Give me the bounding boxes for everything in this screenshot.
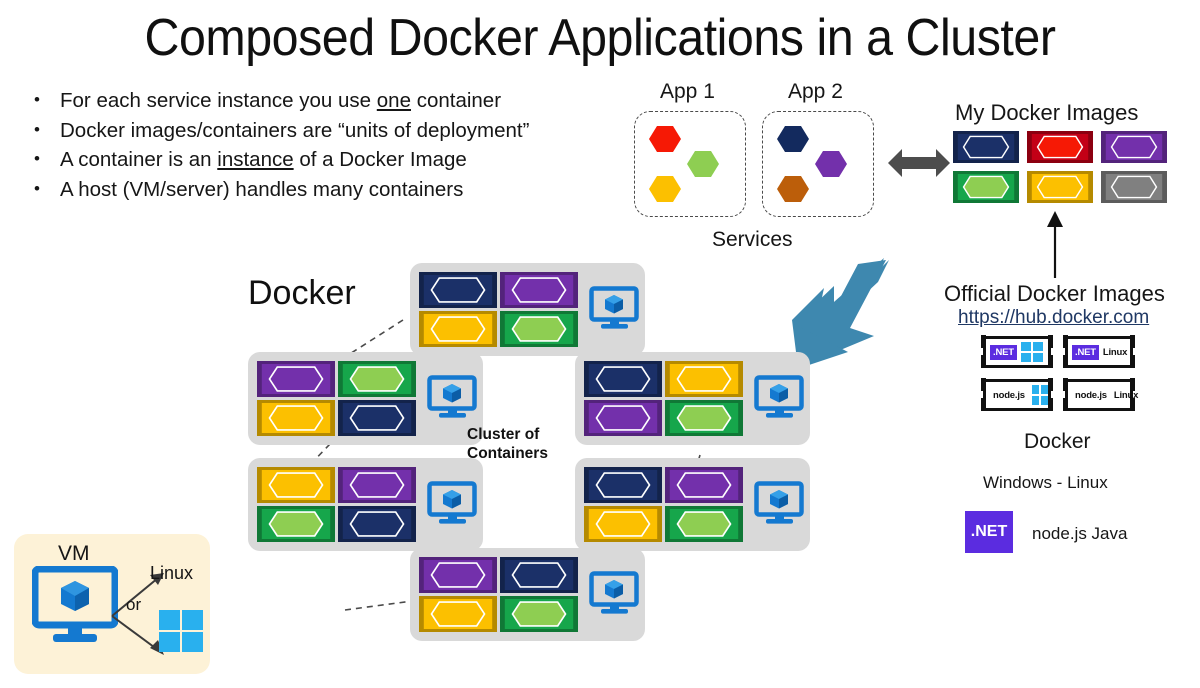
host-left-upper-container-4[interactable] [338,400,416,441]
host-left-lower-container-3[interactable] [257,506,335,547]
host-bottom-container-4[interactable] [500,596,578,637]
host-left-lower-container-1[interactable] [257,467,335,508]
host-right-lower-container-1[interactable] [584,467,662,508]
cluster-caption-line1: Cluster of [467,425,548,444]
host-bottom-monitor-icon [589,571,641,617]
host-right-lower-container-3[interactable] [584,506,662,547]
host-left-lower-container-4-glyph [338,506,416,542]
host-top-container-2-glyph [500,272,578,308]
host-right-lower-container-3-glyph [584,506,662,542]
vm-or-label: or [126,595,141,615]
host-right-lower-container-1-glyph [584,467,662,503]
host-right-upper-monitor[interactable] [754,375,806,426]
host-left-upper-monitor[interactable] [427,375,479,426]
host-left-lower-monitor-icon [427,481,479,527]
host-right-upper-container-2[interactable] [665,361,743,402]
host-top-container-3-glyph [419,311,497,347]
host-top-container-4-glyph [500,311,578,347]
vm-monitor-icon [32,566,118,644]
host-left-upper[interactable] [248,352,483,445]
host-top[interactable] [410,263,645,356]
host-left-upper-container-2-glyph [338,361,416,397]
host-right-upper-container-3[interactable] [584,400,662,441]
host-top-container-1-glyph [419,272,497,308]
host-left-upper-container-2[interactable] [338,361,416,402]
host-right-lower-monitor-icon [754,481,806,527]
host-top-container-3[interactable] [419,311,497,352]
host-left-lower-container-1-glyph [257,467,335,503]
host-right-lower-container-2-glyph [665,467,743,503]
host-left-upper-container-3-glyph [257,400,335,436]
host-left-lower-monitor[interactable] [427,481,479,532]
host-bottom-container-4-glyph [500,596,578,632]
vm-card[interactable]: VM Linux or [14,534,210,674]
host-right-lower-container-4[interactable] [665,506,743,547]
host-left-upper-monitor-icon [427,375,479,421]
host-left-lower[interactable] [248,458,483,551]
host-right-upper-container-1-glyph [584,361,662,397]
host-bottom-container-2-glyph [500,557,578,593]
host-bottom-container-2[interactable] [500,557,578,598]
vm-linux-label: Linux [150,563,193,584]
host-right-upper-container-4-glyph [665,400,743,436]
host-top-monitor[interactable] [589,286,641,337]
cluster-caption-line2: Containers [467,444,548,463]
host-top-container-1[interactable] [419,272,497,313]
host-left-upper-container-1[interactable] [257,361,335,402]
host-right-lower[interactable] [575,458,810,551]
host-bottom[interactable] [410,548,645,641]
host-right-upper-container-1[interactable] [584,361,662,402]
host-left-upper-container-1-glyph [257,361,335,397]
windows-logo-icon [159,610,203,652]
host-bottom-container-3[interactable] [419,596,497,637]
host-left-lower-container-2[interactable] [338,467,416,508]
host-left-lower-container-4[interactable] [338,506,416,547]
host-left-lower-container-2-glyph [338,467,416,503]
host-left-upper-container-4-glyph [338,400,416,436]
host-right-upper[interactable] [575,352,810,445]
host-top-monitor-icon [589,286,641,332]
host-left-lower-container-3-glyph [257,506,335,542]
host-right-upper-container-3-glyph [584,400,662,436]
host-bottom-monitor[interactable] [589,571,641,622]
host-right-upper-monitor-icon [754,375,806,421]
host-bottom-container-3-glyph [419,596,497,632]
host-top-container-2[interactable] [500,272,578,313]
host-right-upper-container-4[interactable] [665,400,743,441]
vm-label: VM [58,542,90,566]
host-right-lower-monitor[interactable] [754,481,806,532]
host-right-upper-container-2-glyph [665,361,743,397]
host-bottom-container-1[interactable] [419,557,497,598]
cluster-caption: Cluster of Containers [467,425,548,463]
host-right-lower-container-4-glyph [665,506,743,542]
host-top-container-4[interactable] [500,311,578,352]
host-left-upper-container-3[interactable] [257,400,335,441]
host-bottom-container-1-glyph [419,557,497,593]
host-right-lower-container-2[interactable] [665,467,743,508]
